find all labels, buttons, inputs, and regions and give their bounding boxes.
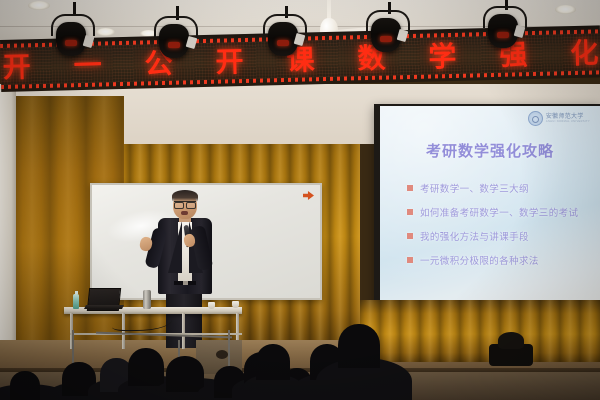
eyeglasses-icon <box>174 201 196 208</box>
downlight-4 <box>555 5 576 14</box>
downlight-2 <box>96 28 115 36</box>
audience-head <box>338 324 380 368</box>
slide-bullet-label: 考研数学一、数学三大纲 <box>420 181 529 195</box>
paper-cup <box>232 301 239 308</box>
presenter-mouth <box>181 211 188 215</box>
slide-bullet-item: 考研数学一、数学三大纲 <box>407 176 597 200</box>
slide-bullet-list: 考研数学一、数学三大纲 如何准备考研数学一、数学三的考试 我的强化方法与讲课手段… <box>407 176 597 272</box>
audience-head <box>166 356 204 392</box>
banner-char-3: 开 <box>215 40 244 81</box>
whiteboard-marker-holder-icon <box>303 191 314 200</box>
banner-char-8: 化 <box>570 31 599 72</box>
slide-bullet-label: 如何准备考研数学一、数学三的考试 <box>420 205 578 219</box>
slide-bullet-label: 我的强化方法与讲课手段 <box>420 229 529 243</box>
bullet-square-icon <box>407 209 413 215</box>
lecture-hall-photo: 开 一 公 开 课 数 学 强 化 <box>0 0 600 400</box>
bullet-square-icon <box>407 185 413 191</box>
table-leg <box>182 313 185 349</box>
slide-bullet-item: 一元微积分极限的各种求法 <box>407 248 597 272</box>
bullet-square-icon <box>407 257 413 263</box>
banner-char-0: 开 <box>2 45 31 86</box>
slide-bullet-label: 一元微积分极限的各种求法 <box>420 253 539 267</box>
university-name-en: ANHUI NORMAL UNIVERSITY <box>546 121 590 124</box>
university-name-cn: 安徽师范大学 <box>546 114 590 120</box>
stage-curtain-right <box>360 300 600 362</box>
downlight-1 <box>28 1 50 10</box>
stage-camera-unit <box>489 344 533 366</box>
projection-screen: 安徽师范大学 ANHUI NORMAL UNIVERSITY 考研数学强化攻略 … <box>380 106 600 316</box>
slide-bullet-item: 如何准备考研数学一、数学三的考试 <box>407 200 597 224</box>
left-wall-column <box>0 90 16 380</box>
university-seal-icon <box>528 111 543 126</box>
university-logo: 安徽师范大学 ANHUI NORMAL UNIVERSITY <box>528 111 590 126</box>
audience-head <box>10 371 40 400</box>
paper-cup <box>208 302 215 309</box>
audience-head <box>256 344 290 380</box>
presenter-belt <box>174 281 196 285</box>
university-logo-text: 安徽师范大学 ANHUI NORMAL UNIVERSITY <box>546 114 590 124</box>
laptop-keyboard <box>84 305 124 309</box>
bullet-square-icon <box>407 233 413 239</box>
thermos-flask <box>143 290 151 309</box>
banner-char-6: 学 <box>428 35 457 76</box>
slide-title: 考研数学强化攻略 <box>380 140 600 161</box>
water-bottle <box>73 294 79 309</box>
slide-bullet-item: 我的强化方法与讲课手段 <box>407 224 597 248</box>
audience-head <box>128 348 164 386</box>
